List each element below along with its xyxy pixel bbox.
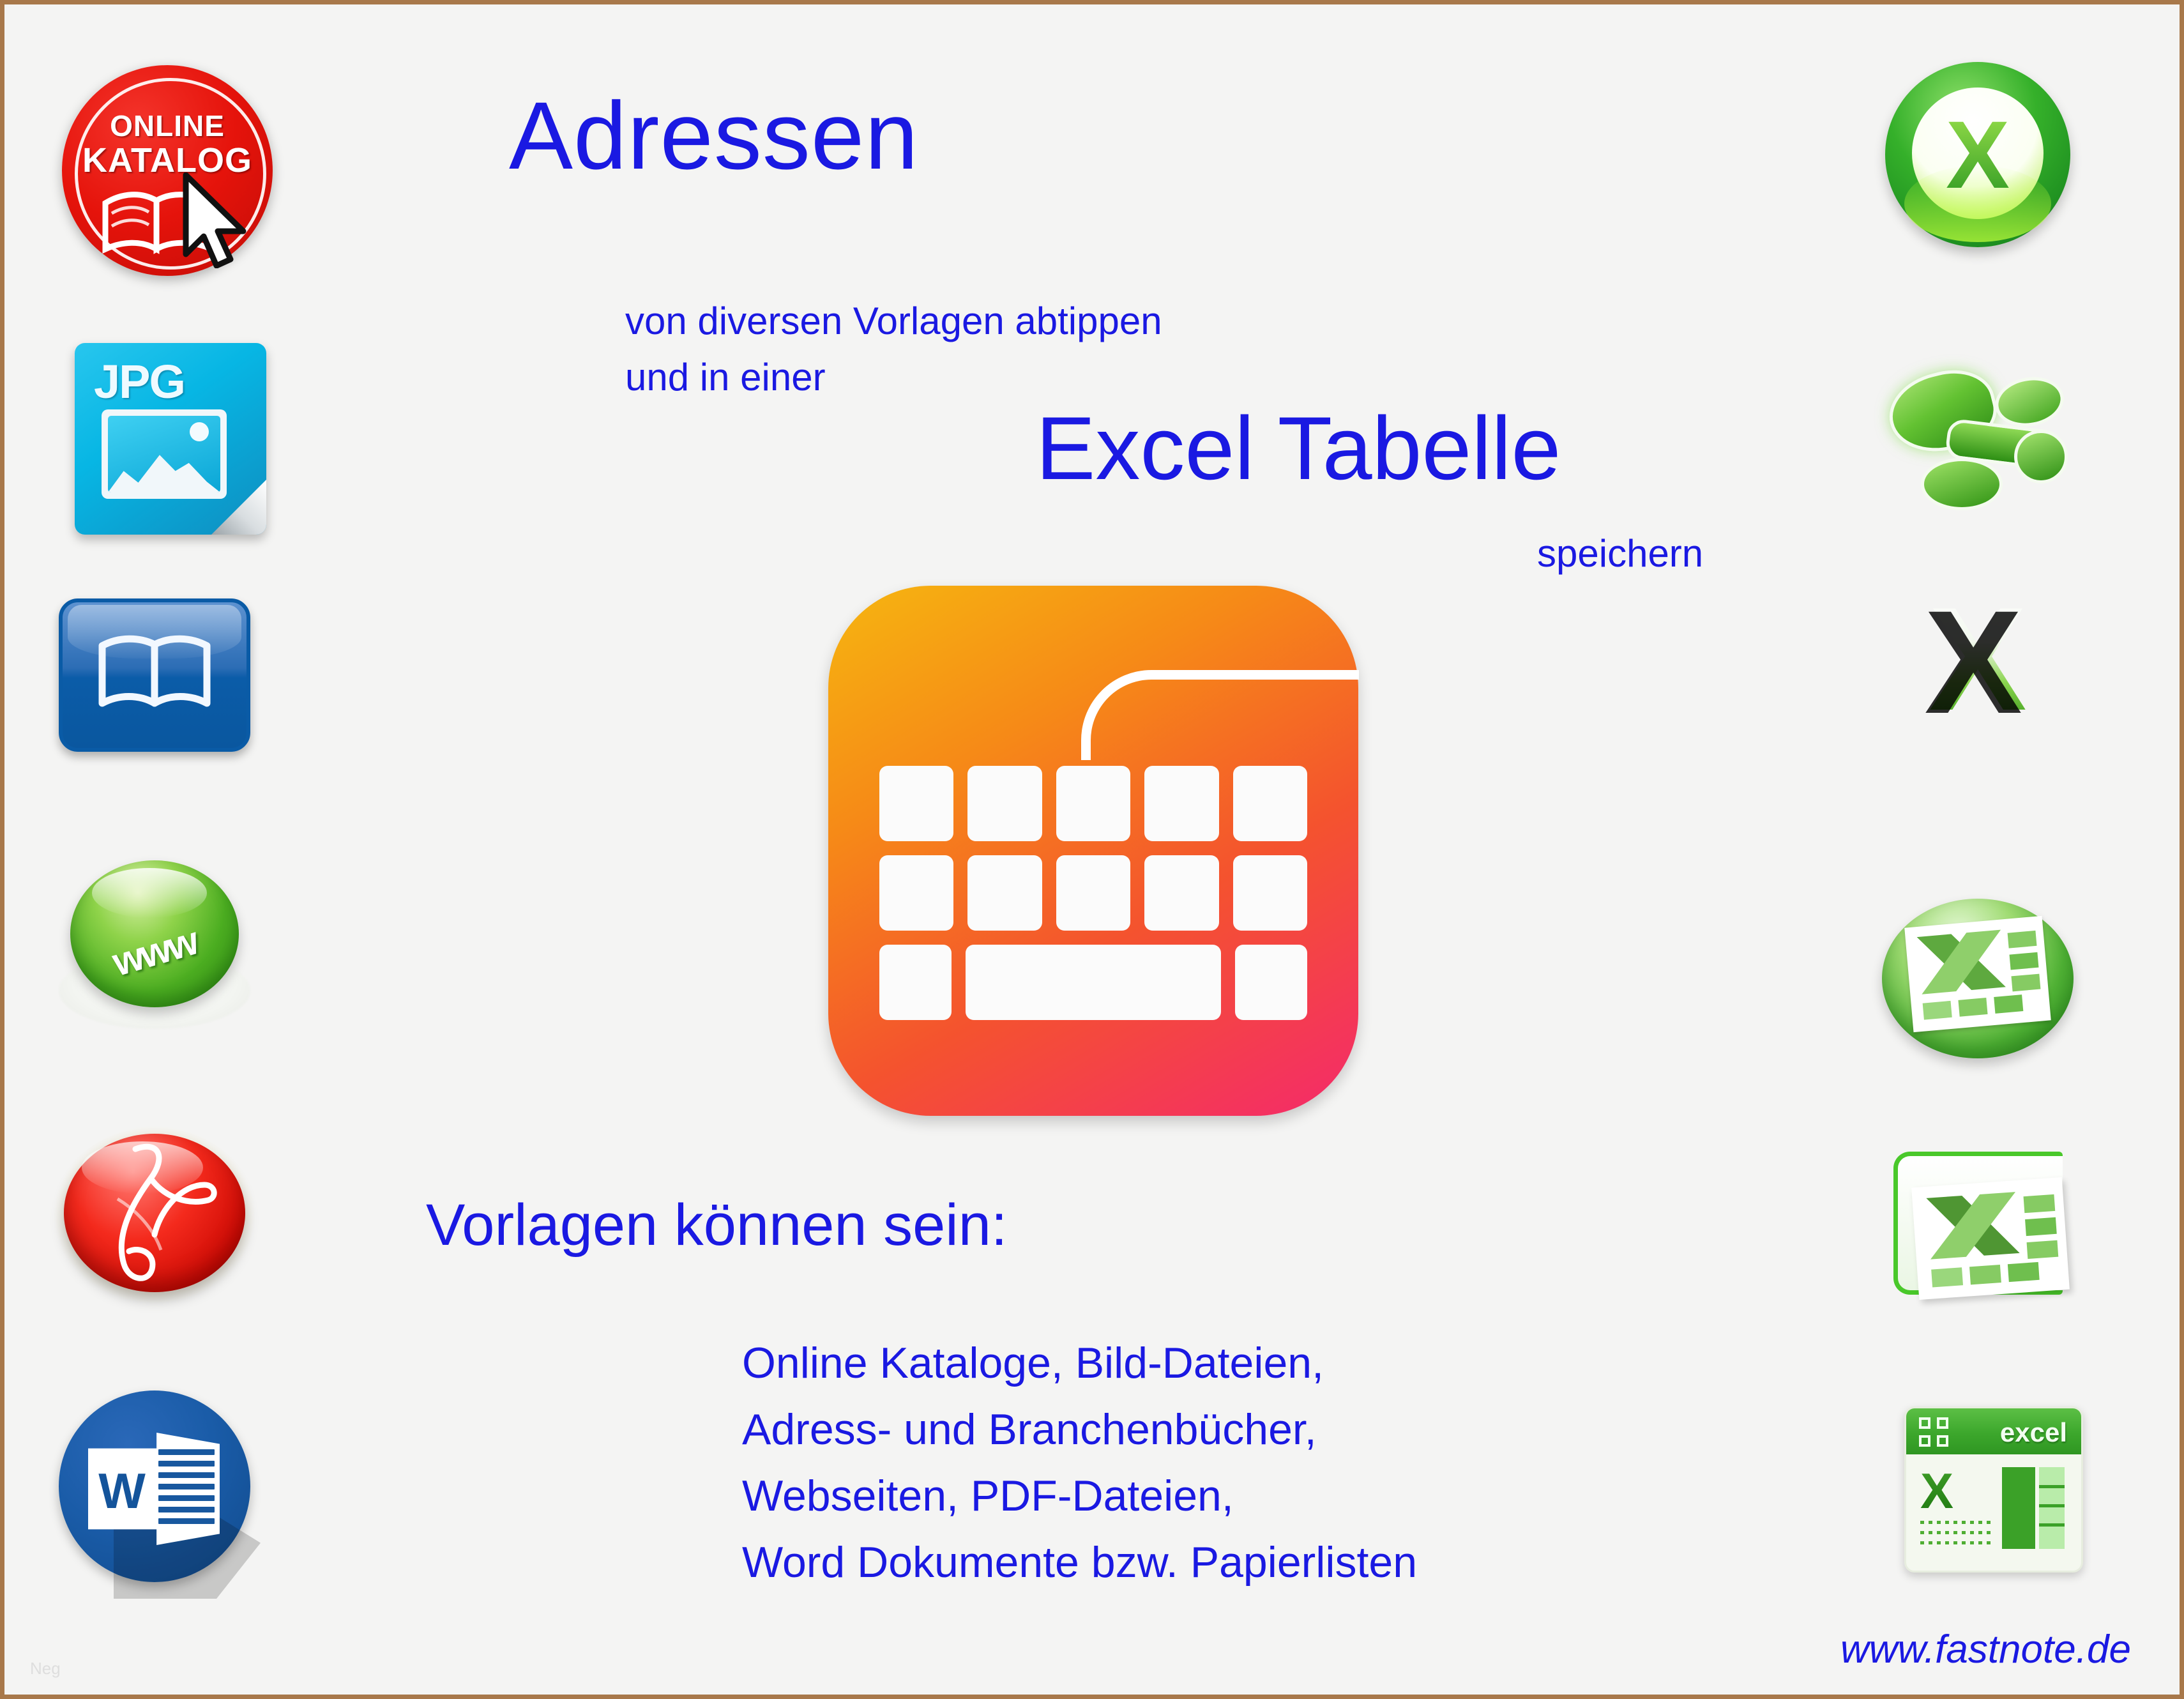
pdf-sphere-icon[interactable] [59, 1129, 250, 1301]
acrobat-swirl-icon [98, 1139, 220, 1290]
x-3d-letter: X [1885, 586, 2070, 733]
emphasis-excel-tabelle: Excel Tabelle [1036, 404, 1561, 493]
excel-sheet-glyph [1911, 1177, 2070, 1300]
keyboard-body [828, 586, 1358, 1116]
keyboard-key [1144, 855, 1218, 931]
blob-shape-2 [1991, 372, 2068, 432]
keyboard-swoosh [1081, 670, 1359, 760]
katalog-line1: ONLINE [56, 109, 279, 143]
keyboard-spacebar [966, 945, 1221, 1020]
keyboard-key [879, 855, 953, 931]
mountain-shape [108, 448, 220, 492]
keyboard-key [1235, 945, 1307, 1020]
excel-card-icon[interactable]: excel X [1904, 1406, 2083, 1573]
www-highlight [92, 868, 207, 918]
green-blob-logo-icon[interactable] [1885, 369, 2070, 515]
word-letter: W [93, 1462, 151, 1520]
excel-x-3d-icon[interactable]: X [1885, 586, 2070, 733]
x-circle-letter: X [1885, 107, 2070, 202]
www-sphere-icon[interactable]: www [59, 854, 250, 1033]
blob-shape-3 [1921, 458, 2003, 510]
excel-sheet-glyph [1904, 916, 2051, 1032]
keyboard-row-1 [879, 766, 1307, 841]
excel-card-column-lines [2039, 1467, 2065, 1549]
jpg-label: JPG [94, 354, 185, 409]
keyboard-key [879, 945, 952, 1020]
keyboard-row-2 [879, 855, 1307, 931]
keyboard-key [1056, 766, 1130, 841]
keyboard-table-icon[interactable] [828, 586, 1358, 1116]
book-button-icon[interactable] [59, 598, 250, 752]
mouse-cursor-icon [181, 172, 251, 268]
emphasis-after: speichern [1537, 535, 1703, 573]
templates-list: Online Kataloge, Bild-Dateien, Adress- u… [742, 1330, 1417, 1596]
keyboard-row-3 [879, 945, 1307, 1020]
excel-card-letter: X [1920, 1466, 1953, 1516]
keyboard-key [967, 766, 1042, 841]
online-katalog-icon[interactable]: ONLINE KATALOG [56, 59, 279, 282]
templates-heading: Vorlagen können sein: [426, 1196, 1007, 1254]
excel-card-dotted-lines [1920, 1521, 1992, 1551]
jpg-file-icon[interactable]: JPG [75, 343, 266, 535]
word-document-icon[interactable]: W [59, 1390, 250, 1582]
sun-icon [190, 422, 209, 441]
excel-sphere-icon[interactable] [1882, 899, 2074, 1058]
keyboard-key [1233, 855, 1307, 931]
jpg-photo-frame [102, 409, 227, 499]
subtitle-line-1: von diversen Vorlagen abtippen und in ei… [625, 293, 1162, 406]
excel-x-circle-icon[interactable]: X [1885, 62, 2070, 247]
keyboard-key [879, 766, 953, 841]
excel-card-label: excel [2000, 1417, 2067, 1448]
keyboard-key [1144, 766, 1218, 841]
word-text-lines [158, 1449, 215, 1530]
keyboard-key [967, 855, 1042, 931]
blob-knob [2014, 430, 2068, 484]
excel-document-icon[interactable] [1882, 1148, 2074, 1307]
slide-canvas: ONLINE KATALOG JPG [0, 0, 2184, 1699]
grid-squares-icon [1919, 1417, 1948, 1447]
footer-url[interactable]: www.fastnote.de [1840, 1630, 2131, 1670]
page-title: Adressen [509, 88, 919, 183]
keyboard-key [1056, 855, 1130, 931]
excel-card-frame: excel X [1904, 1406, 2083, 1573]
keyboard-key [1233, 766, 1307, 841]
corner-watermark: Neg [30, 1659, 61, 1679]
open-book-icon [97, 632, 212, 710]
excel-card-column-dark [2002, 1467, 2035, 1549]
